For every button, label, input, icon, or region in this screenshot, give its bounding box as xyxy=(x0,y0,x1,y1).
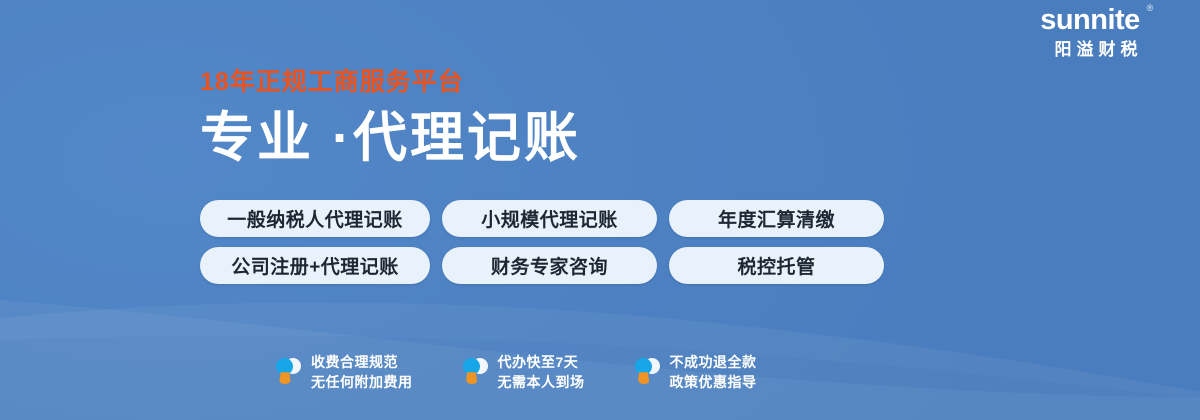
service-pill[interactable]: 一般纳税人代理记账 xyxy=(200,200,430,237)
feature-text: 代办快至7天 无需本人到场 xyxy=(498,352,585,393)
lightbulb-icon xyxy=(461,356,489,388)
lightbulb-base-shape xyxy=(466,372,478,384)
page-title: 专业 ·代理记账 xyxy=(200,111,920,165)
lightbulb-icon xyxy=(274,356,302,388)
feature-text: 收费合理规范 无任何附加费用 xyxy=(311,352,413,393)
feature-line-1: 代办快至7天 xyxy=(498,354,579,370)
service-pill[interactable]: 税控托管 xyxy=(669,247,884,284)
service-pill[interactable]: 公司注册+代理记账 xyxy=(200,247,430,284)
service-pill[interactable]: 年度汇算清缴 xyxy=(669,200,884,237)
logo-chinese-name: 阳溢财税 xyxy=(1006,41,1186,58)
lightbulb-icon xyxy=(633,356,661,388)
feature-item: 收费合理规范 无任何附加费用 xyxy=(274,352,413,393)
service-pill[interactable]: 财务专家咨询 xyxy=(442,247,657,284)
feature-text: 不成功退全款 政策优惠指导 xyxy=(670,352,757,393)
service-pill[interactable]: 小规模代理记账 xyxy=(442,200,657,237)
feature-item: 不成功退全款 政策优惠指导 xyxy=(633,352,757,393)
brand-logo[interactable]: sunnite ® 阳溢财税 xyxy=(1006,6,1186,58)
feature-line-1: 收费合理规范 xyxy=(311,354,398,370)
logo-wordmark: sunnite ® xyxy=(1040,6,1152,35)
eyebrow-tagline: 18年正规工商服务平台 xyxy=(200,70,920,95)
feature-list: 收费合理规范 无任何附加费用 代办快至7天 无需本人到场 不成功退全款 xyxy=(274,352,757,393)
headline-block: 18年正规工商服务平台 专业 ·代理记账 xyxy=(200,70,920,165)
feature-line-2: 无任何附加费用 xyxy=(311,374,413,390)
feature-line-2: 无需本人到场 xyxy=(498,374,585,390)
lightbulb-base-shape xyxy=(638,372,650,384)
logo-wordmark-text: sunnite xyxy=(1040,4,1140,36)
feature-line-2: 政策优惠指导 xyxy=(670,374,757,390)
feature-line-1: 不成功退全款 xyxy=(670,354,757,370)
feature-item: 代办快至7天 无需本人到场 xyxy=(461,352,585,393)
registered-trademark-icon: ® xyxy=(1147,4,1153,13)
promo-banner: sunnite ® 阳溢财税 18年正规工商服务平台 专业 ·代理记账 一般纳税… xyxy=(0,0,1200,420)
lightbulb-base-shape xyxy=(279,372,291,384)
service-pill-grid: 一般纳税人代理记账 小规模代理记账 年度汇算清缴 公司注册+代理记账 财务专家咨… xyxy=(200,200,884,284)
